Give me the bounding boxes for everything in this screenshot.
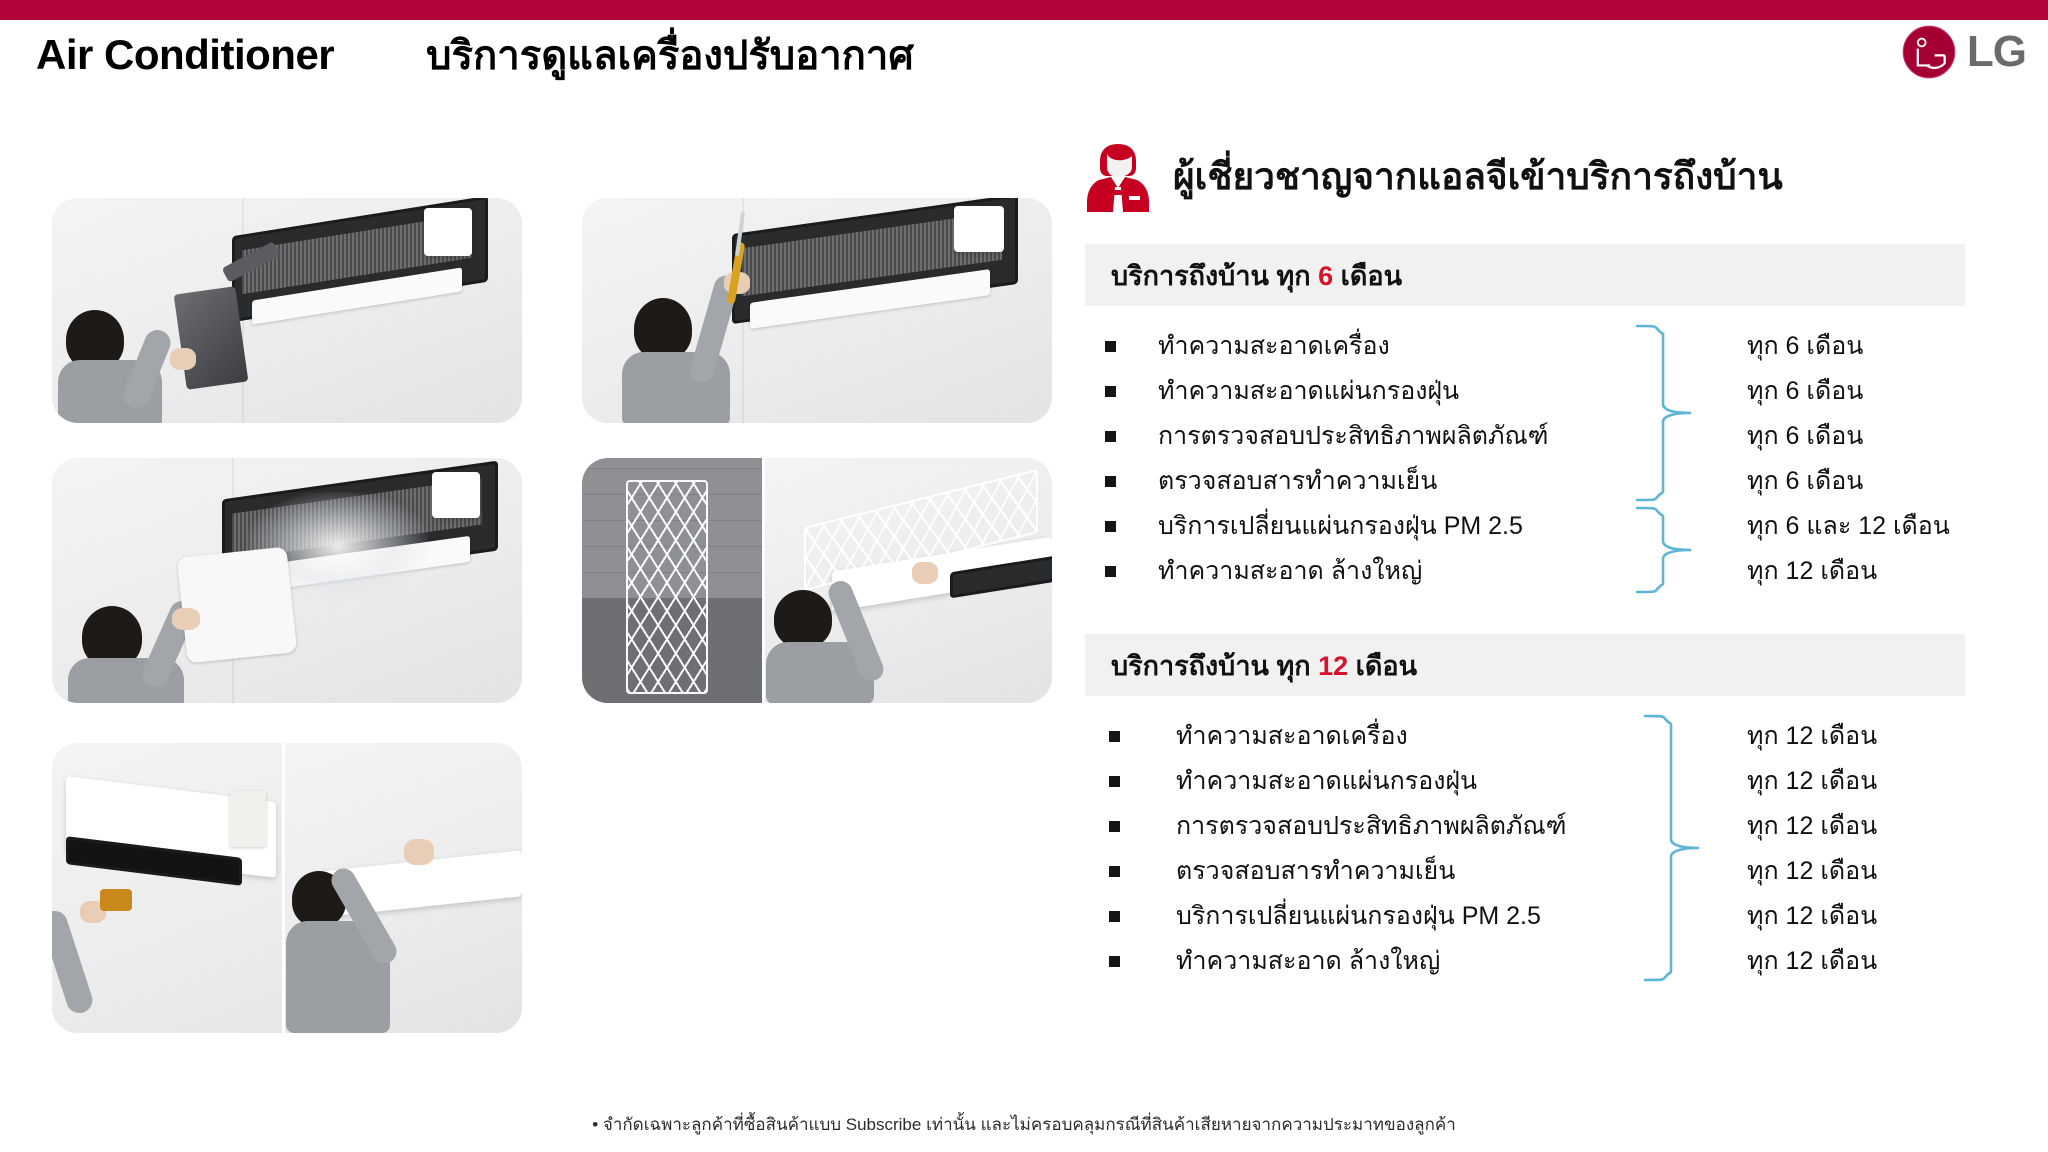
bullet-icon (1105, 341, 1116, 352)
lg-wordmark: LG (1967, 30, 2026, 74)
service-item-row: ทำความสะอาดแผ่นกรองฝุ่น ทุก 6 เดือน (1085, 369, 1965, 414)
section-every-6-months: บริการถึงบ้าน ทุก 6 เดือน ทำความสะอาดเคร… (1085, 244, 1965, 594)
title-english: Air Conditioner (36, 34, 334, 76)
photo-final-inspection (52, 743, 522, 1033)
service-item-row: ทำความสะอาดเครื่อง ทุก 12 เดือน (1085, 714, 1965, 759)
bullet-icon (1105, 566, 1116, 577)
photo-brush-cleaning (582, 198, 1052, 423)
service-technician-icon (1085, 140, 1151, 214)
service-item-frequency: ทุก 6 เดือน (1747, 379, 1863, 404)
service-item-row: การตรวจสอบประสิทธิภาพผลิตภัณฑ์ ทุก 12 เด… (1085, 804, 1965, 849)
bullet-icon (1109, 821, 1120, 832)
bullet-icon (1109, 956, 1120, 967)
section-title-number: 12 (1318, 651, 1348, 681)
service-item-label: ทำความสะอาดเครื่อง (1176, 724, 1408, 749)
photo-vacuum-cleaning (52, 198, 522, 423)
service-item-frequency: ทุก 12 เดือน (1747, 949, 1877, 974)
service-item-frequency: ทุก 6 เดือน (1747, 469, 1863, 494)
photo-steam-cleaning (52, 458, 522, 703)
service-item-row: ทำความสะอาด ล้างใหญ่ ทุก 12 เดือน (1085, 549, 1965, 594)
service-item-row: ตรวจสอบสารทำความเย็น ทุก 12 เดือน (1085, 849, 1965, 894)
service-item-frequency: ทุก 12 เดือน (1747, 859, 1877, 884)
bullet-icon (1105, 476, 1116, 487)
service-item-frequency: ทุก 12 เดือน (1747, 559, 1877, 584)
service-item-label: ตรวจสอบสารทำความเย็น (1176, 859, 1455, 884)
service-item-row: ตรวจสอบสารทำความเย็น ทุก 6 เดือน (1085, 459, 1965, 504)
section-title-prefix: บริการถึงบ้าน ทุก (1111, 261, 1318, 291)
footnote-text: • จำกัดเฉพาะลูกค้าที่ซื้อสินค้าแบบ Subsc… (0, 1111, 2048, 1138)
service-item-label: ทำความสะอาดแผ่นกรองฝุ่น (1158, 379, 1459, 404)
service-details-column: ผู้เชี่ยวชาญจากแอลจีเข้าบริการถึงบ้าน บร… (1085, 140, 1965, 984)
bullet-icon (1109, 731, 1120, 742)
section-title-suffix: เดือน (1348, 651, 1417, 681)
service-item-label: ทำความสะอาด ล้างใหญ่ (1158, 559, 1422, 584)
photo-gallery (52, 198, 1042, 1088)
lg-circle-mark (1901, 24, 1957, 80)
service-item-row: ทำความสะอาดแผ่นกรองฝุ่น ทุก 12 เดือน (1085, 759, 1965, 804)
section-header-panel-6: บริการถึงบ้าน ทุก 6 เดือน (1085, 244, 1965, 306)
bullet-icon (1109, 911, 1120, 922)
section-title-6: บริการถึงบ้าน ทุก 6 เดือน (1111, 254, 1402, 297)
service-item-row: บริการเปลี่ยนแผ่นกรองฝุ่น PM 2.5 ทุก 12 … (1085, 894, 1965, 939)
service-item-label: ทำความสะอาดแผ่นกรองฝุ่น (1176, 769, 1477, 794)
service-item-label: การตรวจสอบประสิทธิภาพผลิตภัณฑ์ (1158, 424, 1548, 449)
service-item-label: ทำความสะอาดเครื่อง (1158, 334, 1390, 359)
service-item-frequency: ทุก 12 เดือน (1747, 904, 1877, 929)
service-item-row: การตรวจสอบประสิทธิภาพผลิตภัณฑ์ ทุก 6 เดื… (1085, 414, 1965, 459)
section-title-number: 6 (1318, 261, 1333, 291)
bullet-icon (1105, 431, 1116, 442)
service-item-label: บริการเปลี่ยนแผ่นกรองฝุ่น PM 2.5 (1158, 514, 1523, 539)
service-item-frequency: ทุก 12 เดือน (1747, 814, 1877, 839)
service-item-frequency: ทุก 12 เดือน (1747, 769, 1877, 794)
section-header-panel-12: บริการถึงบ้าน ทุก 12 เดือน (1085, 634, 1965, 696)
section-title-12: บริการถึงบ้าน ทุก 12 เดือน (1111, 644, 1417, 687)
photo-filter-replacement (582, 458, 1052, 703)
service-item-row: ทำความสะอาด ล้างใหญ่ ทุก 12 เดือน (1085, 939, 1965, 984)
service-item-row: บริการเปลี่ยนแผ่นกรองฝุ่น PM 2.5 ทุก 6 แ… (1085, 504, 1965, 549)
section-every-12-months: บริการถึงบ้าน ทุก 12 เดือน ทำความสะอาดเค… (1085, 634, 1965, 984)
bullet-icon (1105, 386, 1116, 397)
bullet-icon (1109, 776, 1120, 787)
page-title: Air Conditioner บริการดูแลเครื่องปรับอาก… (36, 34, 914, 76)
service-item-label: บริการเปลี่ยนแผ่นกรองฝุ่น PM 2.5 (1176, 904, 1541, 929)
service-item-label: ทำความสะอาด ล้างใหญ่ (1176, 949, 1440, 974)
service-item-frequency: ทุก 6 เดือน (1747, 334, 1863, 359)
service-item-label: การตรวจสอบประสิทธิภาพผลิตภัณฑ์ (1176, 814, 1566, 839)
top-accent-bar (0, 0, 2048, 20)
service-item-row: ทำความสะอาดเครื่อง ทุก 6 เดือน (1085, 324, 1965, 369)
service-item-list-6: ทำความสะอาดเครื่อง ทุก 6 เดือน ทำความสะอ… (1085, 306, 1965, 594)
service-item-list-12: ทำความสะอาดเครื่อง ทุก 12 เดือน ทำความสะ… (1085, 696, 1965, 984)
service-item-label: ตรวจสอบสารทำความเย็น (1158, 469, 1437, 494)
lg-logo: LG (1901, 24, 2026, 80)
service-header: ผู้เชี่ยวชาญจากแอลจีเข้าบริการถึงบ้าน (1085, 140, 1965, 214)
bullet-icon (1105, 521, 1116, 532)
section-title-suffix: เดือน (1333, 261, 1402, 291)
service-header-text: ผู้เชี่ยวชาญจากแอลจีเข้าบริการถึงบ้าน (1173, 157, 1783, 198)
title-thai: บริการดูแลเครื่องปรับอากาศ (426, 36, 914, 76)
bullet-icon (1109, 866, 1120, 877)
service-item-frequency: ทุก 6 และ 12 เดือน (1747, 514, 1950, 539)
service-item-frequency: ทุก 12 เดือน (1747, 724, 1877, 749)
section-title-prefix: บริการถึงบ้าน ทุก (1111, 651, 1318, 681)
slide-root: Air Conditioner บริการดูแลเครื่องปรับอาก… (0, 0, 2048, 1152)
service-item-frequency: ทุก 6 เดือน (1747, 424, 1863, 449)
